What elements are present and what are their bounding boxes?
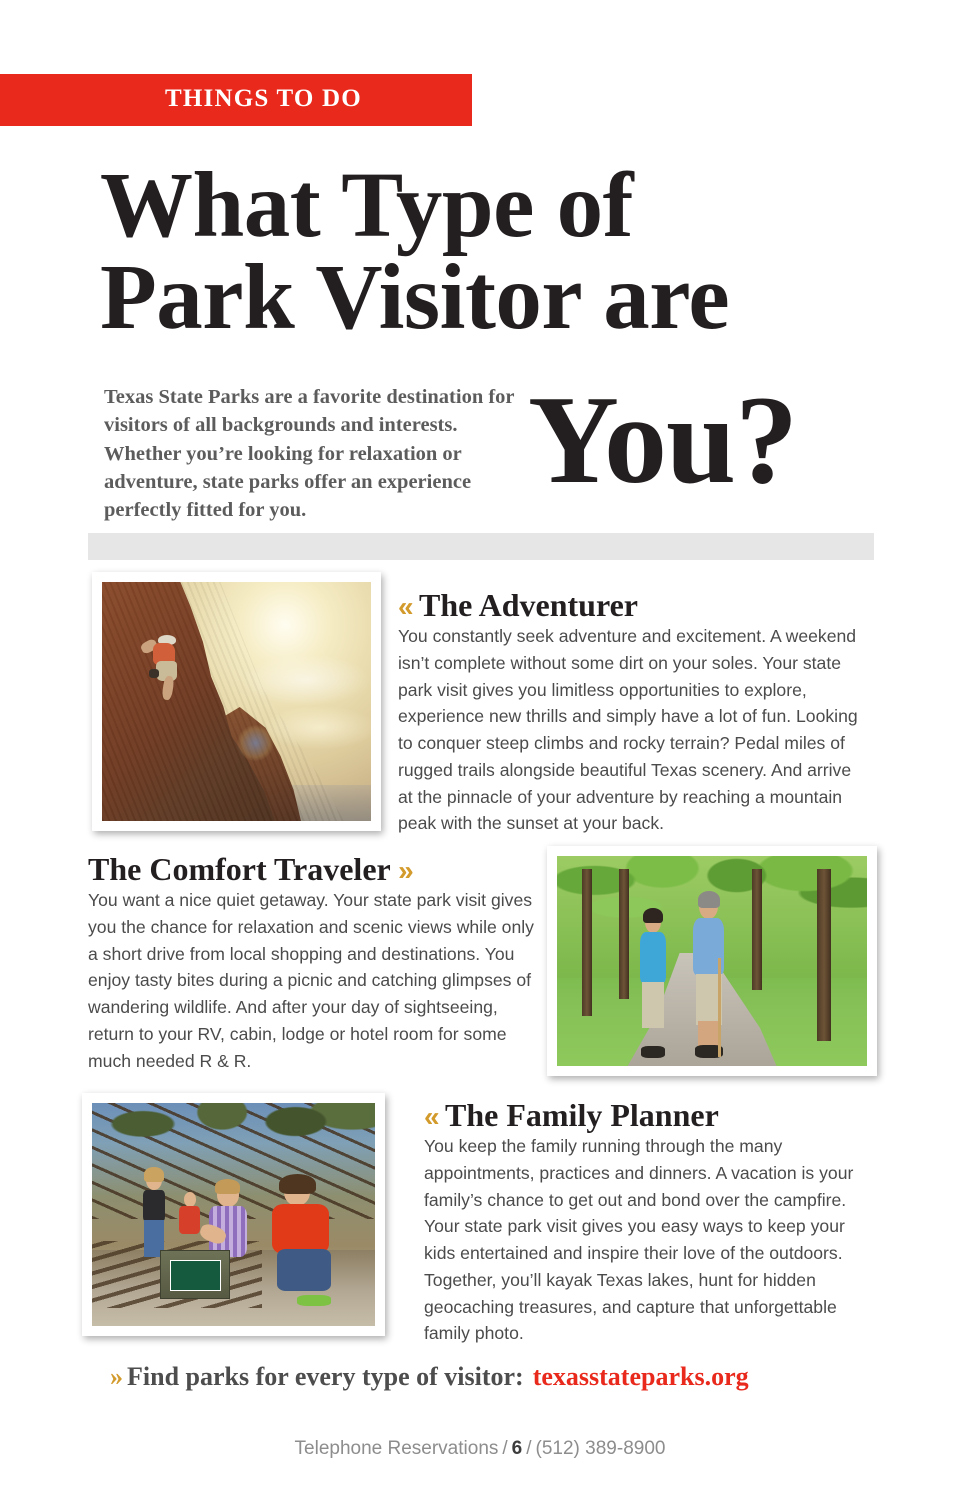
climber-leg [162, 675, 175, 700]
mother-figure [137, 1170, 171, 1259]
tree-trunk [582, 869, 592, 1016]
geocache-box [160, 1250, 230, 1299]
boy-jeans [277, 1249, 331, 1291]
photo-family-planner [82, 1093, 385, 1336]
photo-adventurer [92, 572, 381, 831]
page-root: { "banner": { "label": "THINGS TO DO", "… [0, 0, 960, 1497]
woman-capris [642, 982, 664, 1028]
section-comfort-traveler-body: You want a nice quiet getaway. Your stat… [88, 887, 536, 1074]
walking-stick [718, 958, 721, 1057]
mother-top [143, 1190, 165, 1222]
section-adventurer-body: You constantly seek adventure and excite… [398, 623, 858, 837]
section-comfort-traveler-title: The Comfort Traveler » [88, 852, 536, 887]
climber-shoe [149, 669, 159, 678]
girl-hair [215, 1179, 240, 1194]
cta-url-link[interactable]: texasstateparks.org [533, 1362, 749, 1391]
mother-hair [144, 1167, 164, 1181]
cta-text: Find parks for every type of visitor: [127, 1362, 524, 1391]
section-comfort-traveler: The Comfort Traveler » You want a nice q… [88, 852, 536, 1074]
section-family-planner: « The Family Planner You keep the family… [424, 1098, 860, 1347]
background-child-figure [177, 1192, 202, 1250]
climber-figure [140, 635, 186, 702]
footer-phone: (512) 389-8900 [536, 1438, 666, 1459]
walking-woman-figure [635, 911, 672, 1054]
headline-line-1: What Type of [100, 160, 890, 252]
photo-adventurer-image [102, 582, 371, 821]
boy-red-shirt [272, 1204, 329, 1254]
chevron-left-icon: « [398, 591, 412, 622]
photo-comfort-traveler-image [557, 856, 867, 1066]
section-family-planner-title-text: The Family Planner [445, 1097, 719, 1133]
woman-shoes [641, 1046, 665, 1057]
photo-family-planner-image [92, 1103, 375, 1326]
woman-hair [643, 908, 662, 924]
man-hair [698, 891, 721, 909]
headline-line-3: You? [528, 378, 797, 504]
woman-shirt [640, 932, 667, 983]
section-family-planner-body: You keep the family running through the … [424, 1133, 860, 1347]
lens-flare [237, 725, 275, 761]
chevron-left-icon: « [424, 1101, 438, 1132]
background-child-head [184, 1192, 196, 1207]
boy-shoe [297, 1295, 331, 1306]
banner-label: THINGS TO DO [165, 85, 362, 113]
section-comfort-traveler-title-text: The Comfort Traveler [88, 851, 390, 887]
tree-trunk [619, 869, 629, 999]
chevron-right-icon: » [398, 855, 412, 886]
section-adventurer: « The Adventurer You constantly seek adv… [398, 588, 858, 837]
page-number: 6 [512, 1438, 523, 1459]
section-adventurer-title-text: The Adventurer [419, 587, 638, 623]
section-divider [88, 533, 874, 560]
boy-figure [262, 1179, 336, 1304]
call-to-action: »Find parks for every type of visitor:te… [110, 1362, 910, 1392]
section-family-planner-title: « The Family Planner [424, 1098, 860, 1133]
page-title: What Type of Park Visitor are [100, 160, 890, 344]
photo-comfort-traveler [547, 846, 877, 1076]
banner-shadow-tail [0, 130, 476, 147]
headline-line-2: Park Visitor are [100, 252, 890, 344]
boy-hair [279, 1174, 316, 1194]
tree-trunk [817, 869, 831, 1041]
walking-man-figure [687, 894, 730, 1054]
tree-trunk [752, 869, 762, 991]
footer-separator: / [502, 1438, 507, 1459]
page-footer: Telephone Reservations/6/(512) 389-8900 [0, 1438, 960, 1460]
chevron-right-icon: » [110, 1362, 121, 1391]
things-to-do-banner: THINGS TO DO [0, 74, 472, 126]
background-child-shirt [179, 1206, 199, 1234]
section-adventurer-title: « The Adventurer [398, 588, 858, 623]
footer-separator: / [526, 1438, 531, 1459]
geocache-box-label [170, 1260, 221, 1291]
intro-paragraph: Texas State Parks are a favorite destina… [104, 383, 524, 524]
footer-label: Telephone Reservations [295, 1438, 499, 1459]
